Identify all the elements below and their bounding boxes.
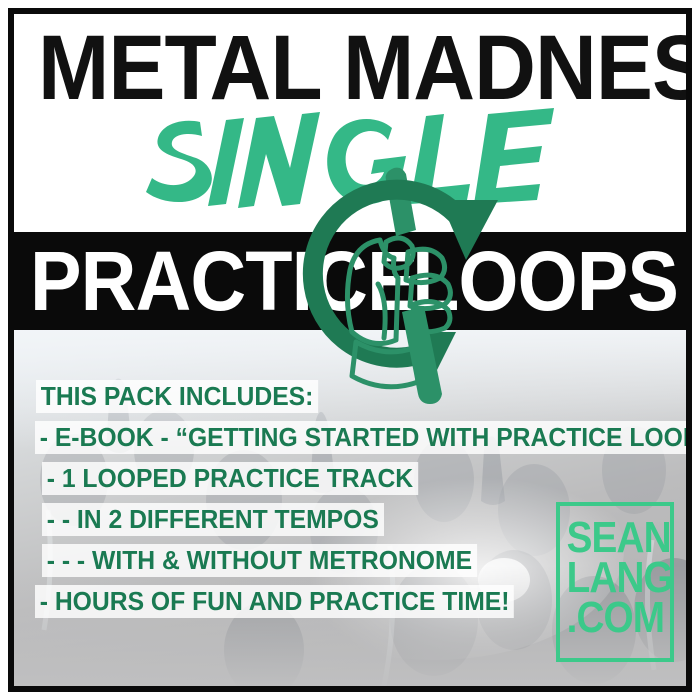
brand-line-com: .COM bbox=[567, 598, 664, 638]
feature-item-ebook: - E-BOOK - “GETTING STARTED WITH PRACTIC… bbox=[35, 421, 686, 454]
feature-item-looped-track: - 1 LOOPED PRACTICE TRACK bbox=[42, 462, 418, 495]
feature-item-tempos: - - IN 2 DIFFERENT TEMPOS bbox=[42, 503, 384, 536]
brand-logo-lines: SEAN LANG .COM bbox=[560, 518, 670, 638]
list-item: - - IN 2 DIFFERENT TEMPOS bbox=[42, 503, 582, 536]
list-item: - 1 LOOPED PRACTICE TRACK bbox=[42, 462, 582, 495]
feature-item-hours-of-fun: - HOURS OF FUN AND PRACTICE TIME! bbox=[35, 585, 514, 618]
feature-heading: THIS PACK INCLUDES: bbox=[36, 380, 318, 413]
feature-list: THIS PACK INCLUDES: - E-BOOK - “GETTING … bbox=[22, 380, 582, 626]
brand-logo: SEAN LANG .COM bbox=[556, 502, 674, 662]
list-item: - - - WITH & WITHOUT METRONOME bbox=[42, 544, 582, 577]
loop-arrow-icon bbox=[290, 166, 506, 410]
brand-line-sean: SEAN bbox=[567, 518, 664, 558]
list-item: - HOURS OF FUN AND PRACTICE TIME! bbox=[35, 585, 582, 618]
list-item: THIS PACK INCLUDES: bbox=[36, 380, 582, 413]
album-artwork: METAL MADNESS 1 bbox=[0, 0, 700, 700]
artwork-inner-region: METAL MADNESS 1 bbox=[14, 14, 686, 686]
brand-line-lang: LANG bbox=[567, 558, 664, 598]
list-item: - E-BOOK - “GETTING STARTED WITH PRACTIC… bbox=[35, 421, 582, 454]
feature-item-metronome: - - - WITH & WITHOUT METRONOME bbox=[42, 544, 477, 577]
page-title: METAL MADNESS 1 bbox=[38, 22, 626, 114]
